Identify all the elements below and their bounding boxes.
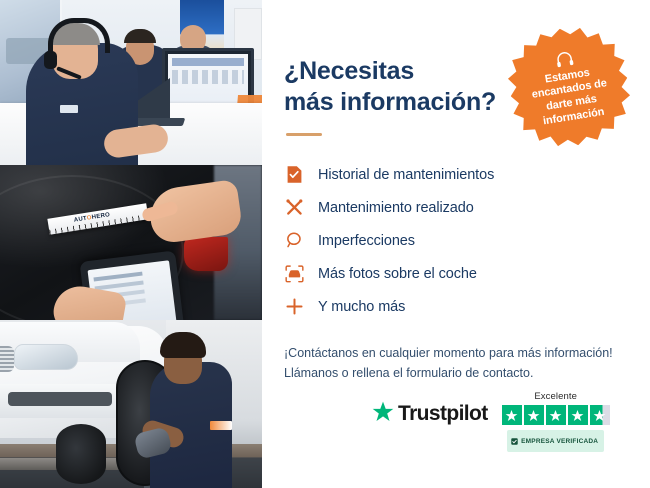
contact-line-2: Llámanos o rellena el formulario de cont… bbox=[284, 366, 533, 380]
star-filled bbox=[568, 405, 588, 425]
rear-tire bbox=[56, 424, 106, 484]
contact-text: ¡Contáctanos en cualquier momento para m… bbox=[284, 343, 622, 384]
headset-band bbox=[48, 18, 110, 53]
photo-column: AUTOHERO bbox=[0, 0, 262, 488]
star-filled bbox=[524, 405, 544, 425]
star-filled bbox=[502, 405, 522, 425]
star-filled bbox=[546, 405, 566, 425]
list-item-label: Más fotos sobre el coche bbox=[318, 266, 477, 282]
car-inspection-ruler-tablet-photo: AUTOHERO bbox=[0, 165, 262, 320]
plus-icon bbox=[284, 296, 305, 317]
document-check-icon bbox=[284, 164, 305, 185]
trustpilot-logo[interactable]: Trustpilot bbox=[372, 401, 488, 427]
monitor-screen bbox=[168, 54, 248, 110]
list-item: Más fotos sobre el coche bbox=[284, 257, 622, 290]
trustpilot-rating-label: Excelente bbox=[534, 391, 577, 402]
headset-earcup bbox=[44, 51, 57, 69]
tools-icon bbox=[284, 197, 305, 218]
trustpilot-stars bbox=[502, 405, 610, 425]
list-item: Imperfecciones bbox=[284, 224, 622, 257]
car-scan-icon bbox=[284, 263, 305, 284]
list-item-label: Mantenimiento realizado bbox=[318, 200, 474, 216]
contact-line-1: ¡Contáctanos en cualquier momento para m… bbox=[284, 346, 613, 360]
encantados-badge: Estamos encantados de darte más informac… bbox=[501, 19, 636, 154]
content-panel: Estamos encantados de darte más informac… bbox=[262, 0, 650, 488]
verified-company-text: EMPRESA VERIFICADA bbox=[521, 438, 598, 445]
star-partial bbox=[590, 405, 610, 425]
verified-company-badge: EMPRESA VERIFICADA bbox=[507, 430, 604, 452]
check-square-icon bbox=[511, 432, 518, 450]
trustpilot-star-icon bbox=[372, 401, 394, 427]
headline-line-2: más información? bbox=[284, 88, 496, 116]
headset-icon bbox=[553, 49, 576, 70]
list-item: Y mucho más bbox=[284, 290, 622, 323]
list-item-label: Imperfecciones bbox=[318, 233, 415, 249]
list-item-label: Y mucho más bbox=[318, 299, 405, 315]
feature-list: Historial de mantenimientos Mantenimient… bbox=[284, 158, 622, 323]
page-title: ¿Necesitas más información? bbox=[284, 56, 529, 117]
trustpilot-widget[interactable]: Trustpilot Excelente bbox=[372, 391, 610, 452]
headline-line-1: ¿Necesitas bbox=[284, 57, 414, 85]
car-grille bbox=[0, 346, 14, 372]
agent-name-badge bbox=[60, 105, 78, 113]
list-item: Historial de mantenimientos bbox=[284, 158, 622, 191]
info-request-banner: AUTOHERO bbox=[0, 0, 650, 488]
car-headlamp bbox=[14, 344, 78, 370]
trustpilot-logo-text: Trustpilot bbox=[398, 402, 488, 426]
car-air-dam bbox=[8, 392, 112, 406]
technician-sleeve-logo bbox=[210, 421, 232, 430]
headline-divider bbox=[286, 133, 322, 136]
list-item-label: Historial de mantenimientos bbox=[318, 167, 494, 183]
trustpilot-rating: Excelente bbox=[502, 391, 610, 452]
magnifier-icon bbox=[284, 230, 305, 251]
list-item: Mantenimiento realizado bbox=[284, 191, 622, 224]
technician-hair bbox=[160, 332, 206, 358]
technician-wheel-inspection-photo bbox=[0, 320, 262, 488]
call-center-agent-headset-photo bbox=[0, 0, 262, 165]
car-taillight bbox=[184, 237, 228, 271]
